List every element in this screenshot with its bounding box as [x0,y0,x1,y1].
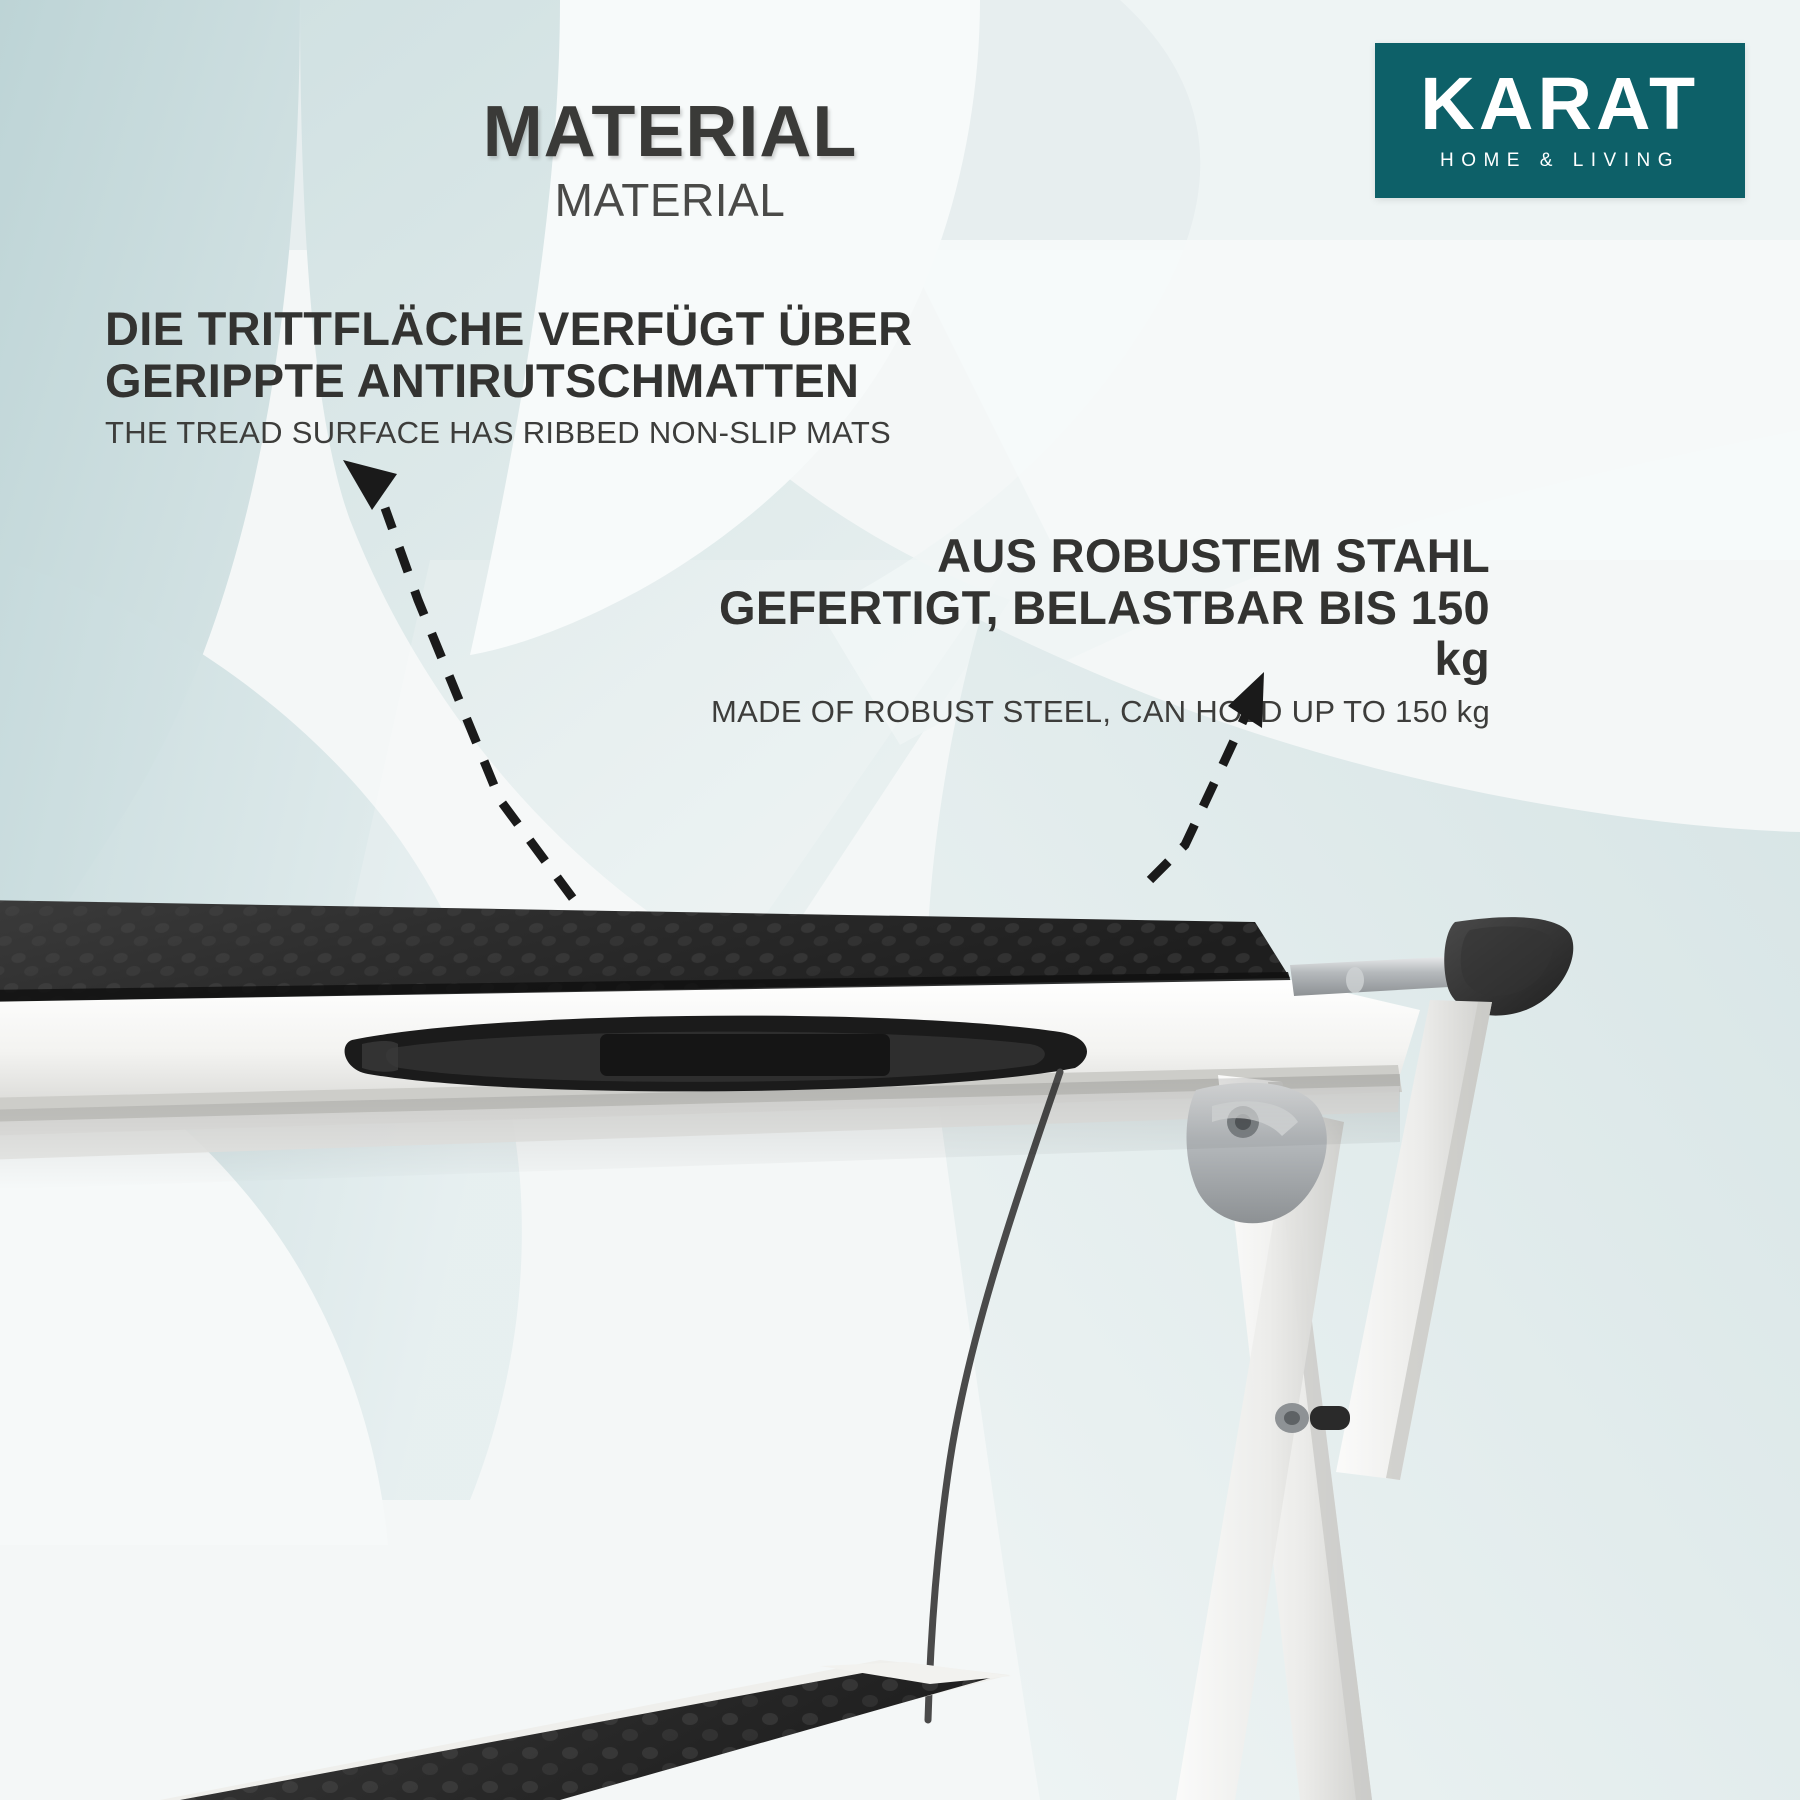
rubber-end-cap [1444,917,1573,1015]
dashed-arrow-up-right [1150,672,1264,880]
product-photo-step-stool [0,860,1800,1800]
step-handle [345,1016,1087,1092]
safety-cable [928,1072,1060,1720]
product-infographic: KARAT HOME & LIVING MATERIAL MATERIAL DI… [0,0,1800,1800]
bottom-step [160,1660,1012,1800]
